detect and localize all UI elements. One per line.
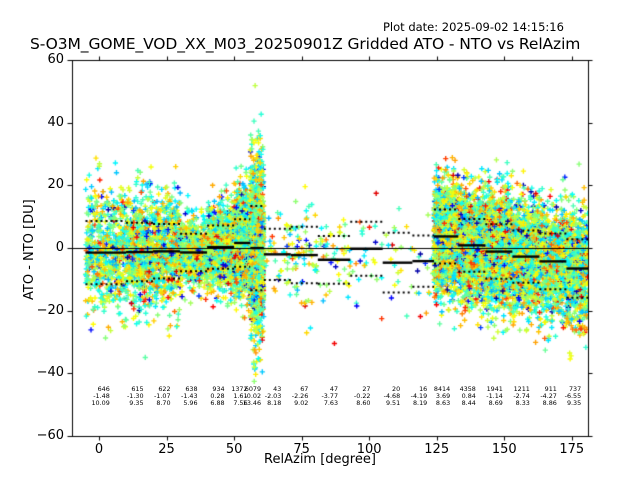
- x-tick-label: 0: [79, 442, 119, 457]
- figure-container: Plot date: 2025-09-02 14:15:16 S-O3M_GOM…: [0, 0, 640, 480]
- x-tick-label: 125: [417, 442, 457, 457]
- x-tick-label: 50: [214, 442, 254, 457]
- y-tick-label: 40: [24, 115, 64, 130]
- y-tick-label: −40: [24, 365, 64, 380]
- x-tick-label: 175: [552, 442, 592, 457]
- stat-stddev: 10.09: [76, 399, 110, 407]
- plot-date-label: Plot date: 2025-09-02 14:15:16: [383, 20, 564, 34]
- x-tick-label: 100: [349, 442, 389, 457]
- x-tick-label: 75: [282, 442, 322, 457]
- stat-stddev: 9.35: [547, 399, 581, 407]
- y-tick-label: −20: [24, 303, 64, 318]
- page-title: S-O3M_GOME_VOD_XX_M03_20250901Z Gridded …: [30, 35, 580, 53]
- x-tick-label: 150: [484, 442, 524, 457]
- stat-stddev: 7.63: [304, 399, 338, 407]
- y-tick-label: 0: [24, 240, 64, 255]
- y-tick-label: −60: [24, 428, 64, 443]
- scatter-plot-canvas: [0, 0, 640, 480]
- x-tick-label: 25: [147, 442, 187, 457]
- y-tick-label: 20: [24, 177, 64, 192]
- y-tick-label: 60: [24, 52, 64, 67]
